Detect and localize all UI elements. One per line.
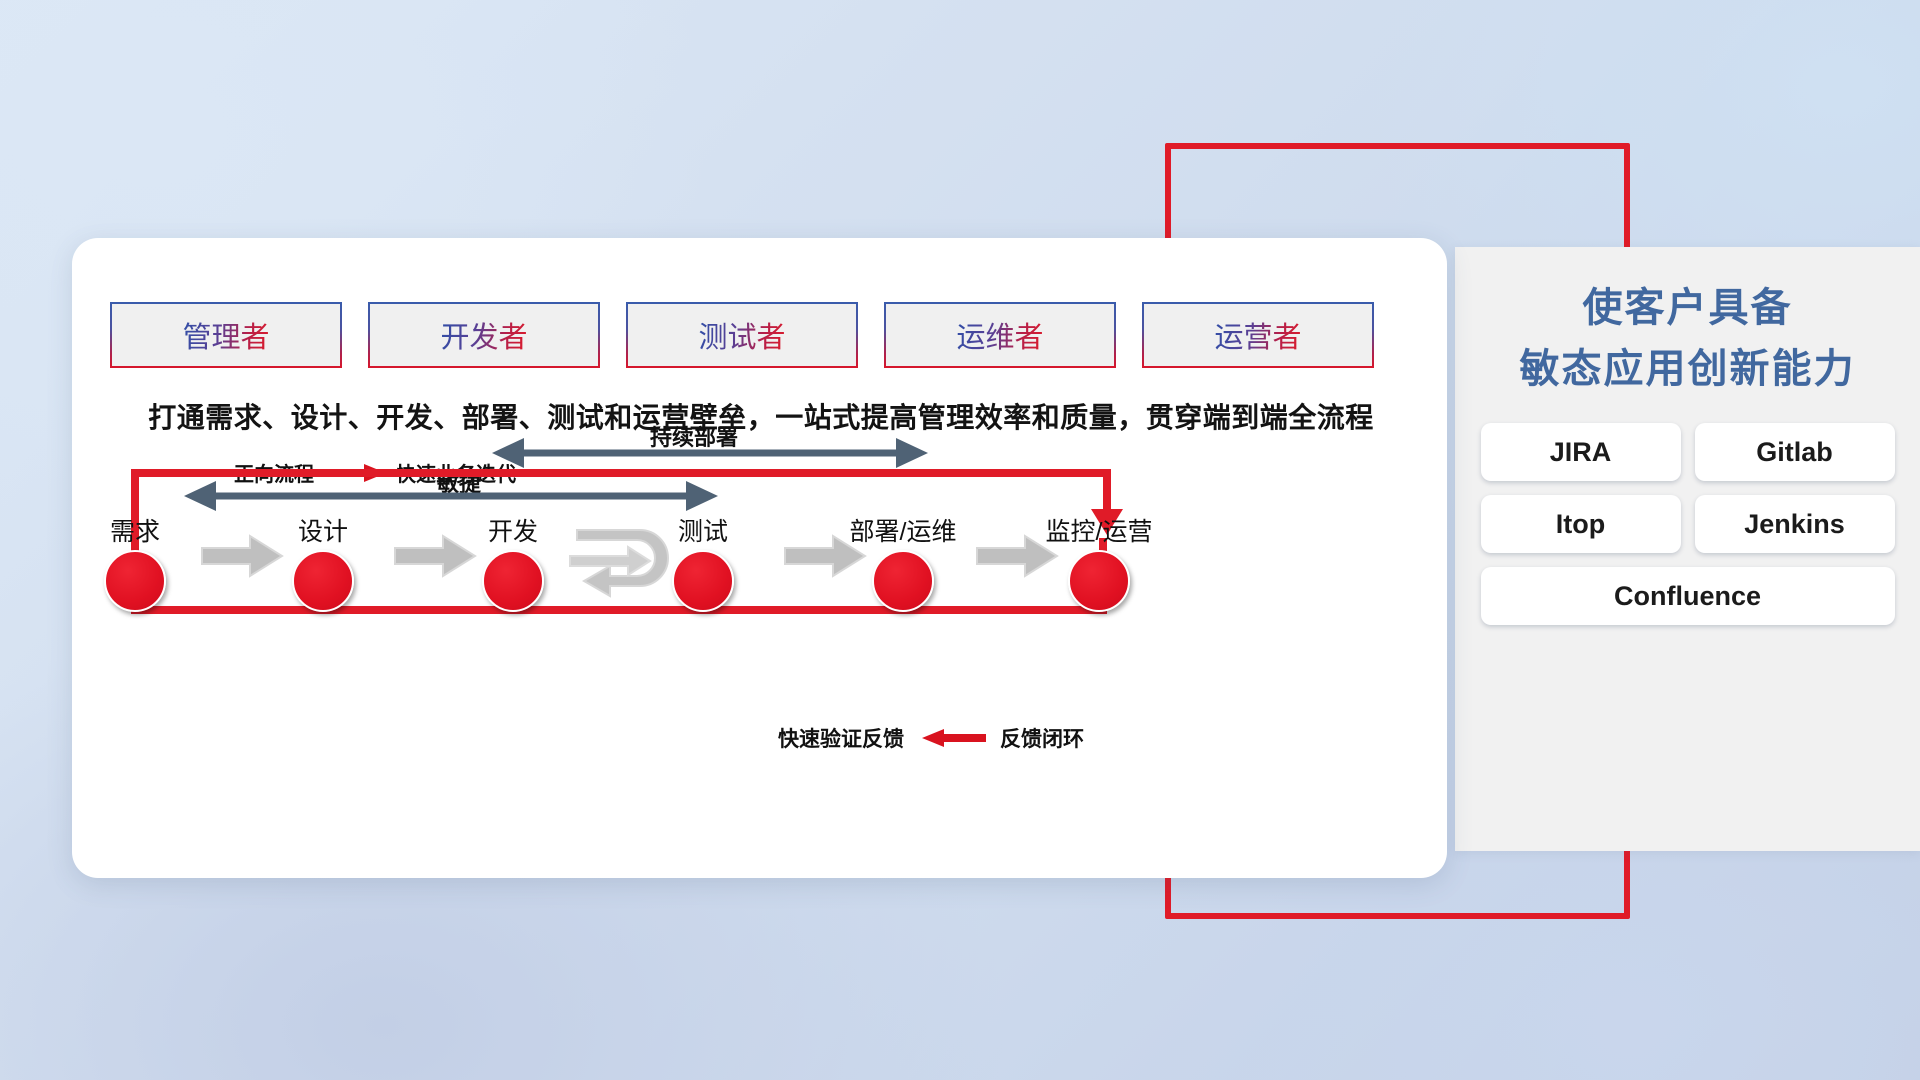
stage-label-test: 测试: [678, 512, 728, 548]
red-feedback-loop: [119, 469, 1123, 614]
stage-label-design: 设计: [298, 512, 348, 548]
stage-node-monitor-operate[interactable]: [1068, 550, 1130, 612]
devops-overview-card: 管理者 开发者 测试者 运维者 运营者 打通需求、设计、开发、部署、测试和运营壁…: [72, 238, 1447, 878]
stage-label-develop: 开发: [488, 512, 538, 548]
tool-chip-jira[interactable]: JIRA: [1481, 423, 1681, 481]
agile-arrow: [184, 481, 718, 511]
stage-label-requirement: 需求: [110, 512, 160, 548]
stage-node-requirement[interactable]: [104, 550, 166, 612]
tool-chip-jenkins[interactable]: Jenkins: [1695, 495, 1895, 553]
tool-chip-grid: JIRA Gitlab Itop Jenkins Confluence: [1465, 423, 1910, 625]
tool-chip-gitlab[interactable]: Gitlab: [1695, 423, 1895, 481]
stage-label-monitor-operate: 监控/运营: [1046, 512, 1153, 548]
capability-panel-title: 使客户具备 敏态应用创新能力: [1455, 281, 1920, 397]
slide-canvas: 使客户具备 敏态应用创新能力 JIRA Gitlab Itop Jenkins …: [0, 0, 1920, 1080]
stage-node-deploy-ops[interactable]: [872, 550, 934, 612]
rework-loop-icon: [570, 530, 668, 596]
stage-label-deploy-ops: 部署/运维: [850, 512, 957, 548]
stage-node-design[interactable]: [292, 550, 354, 612]
capability-title-line2: 敏态应用创新能力: [1455, 342, 1920, 397]
stage-node-test[interactable]: [672, 550, 734, 612]
diagram-vector-overlay: [72, 238, 1447, 878]
capability-panel: 使客户具备 敏态应用创新能力 JIRA Gitlab Itop Jenkins …: [1455, 247, 1920, 851]
stage-node-develop[interactable]: [482, 550, 544, 612]
continuous-deployment-arrow: [492, 438, 928, 468]
tool-chip-itop[interactable]: Itop: [1481, 495, 1681, 553]
capability-title-line1: 使客户具备: [1455, 281, 1920, 336]
tool-chip-confluence[interactable]: Confluence: [1481, 567, 1895, 625]
